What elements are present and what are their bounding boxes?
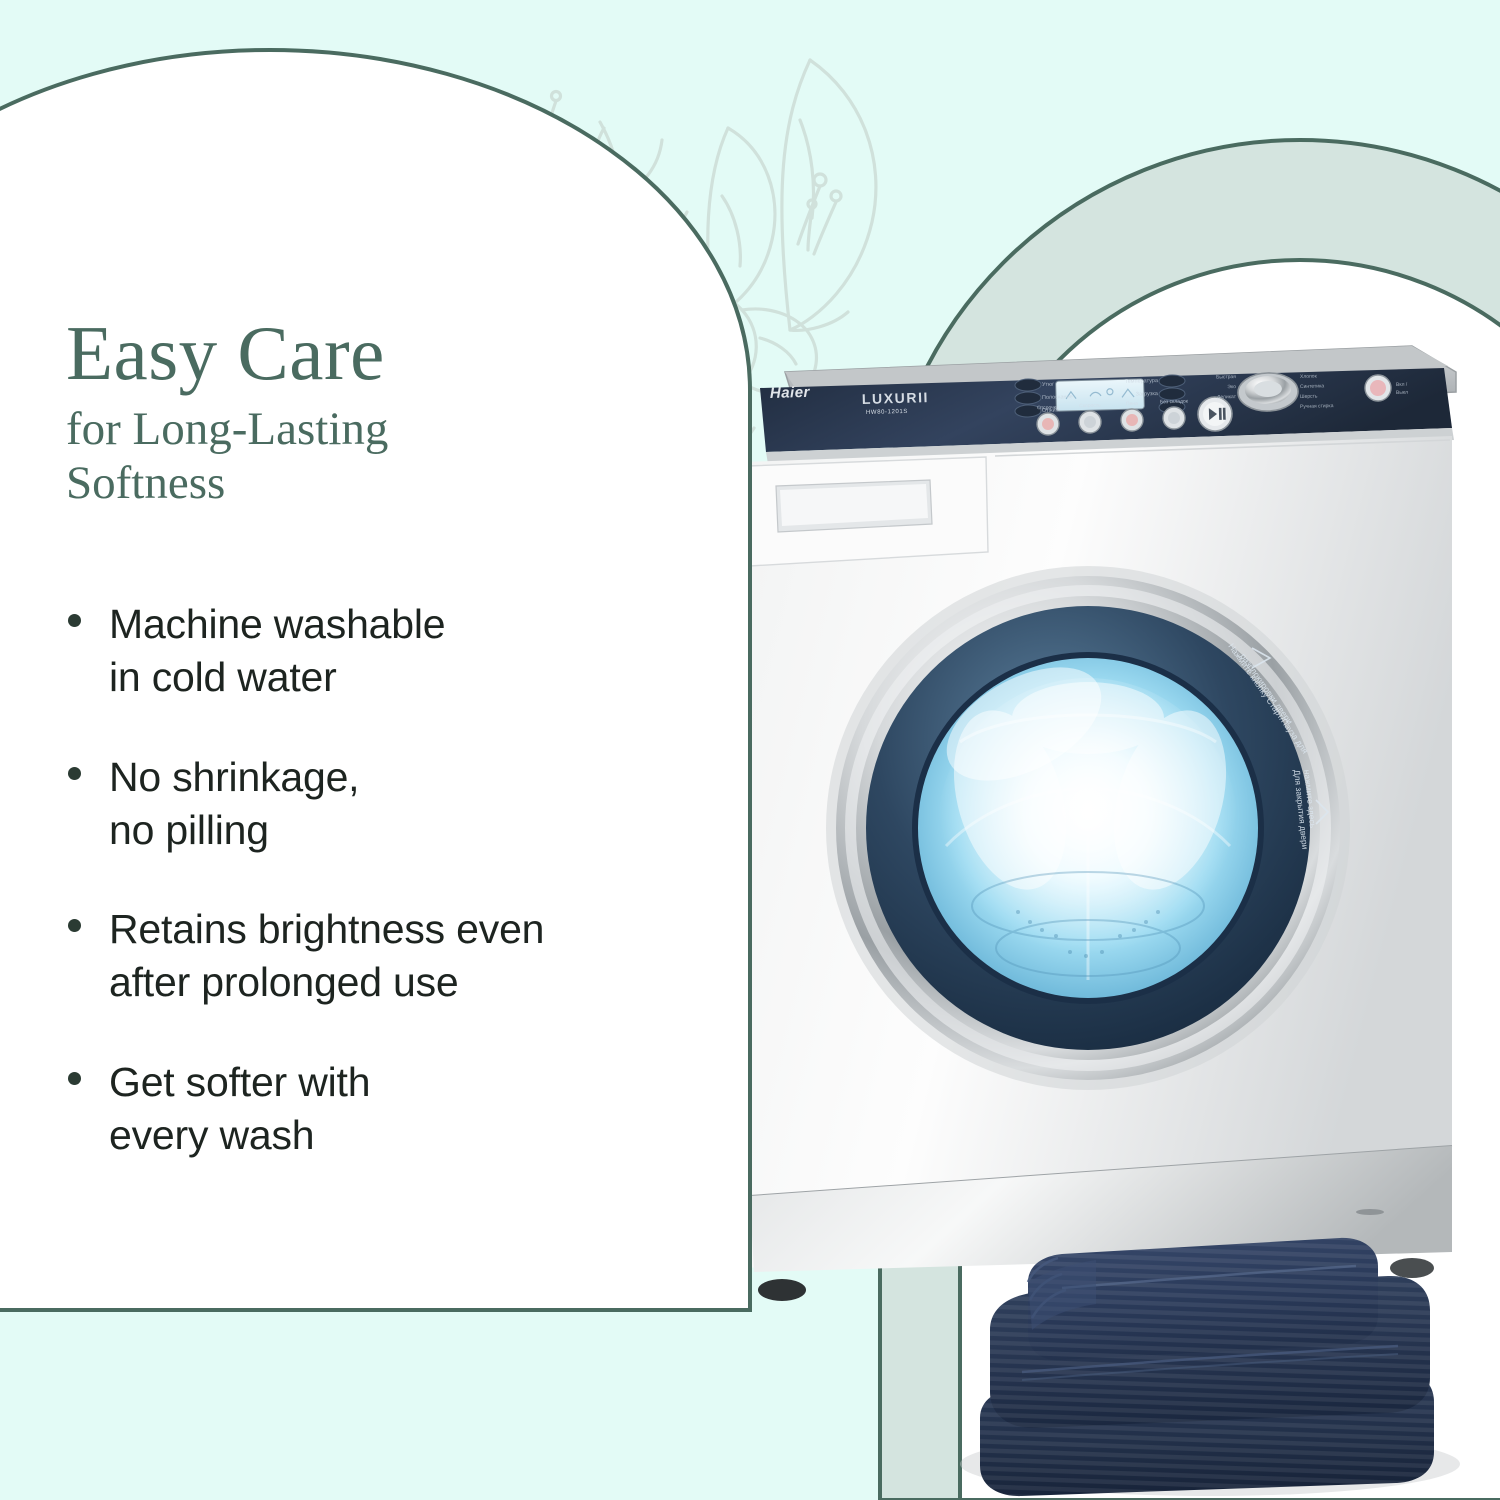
poster-canvas: Haier LUXURII HW80-1201S bbox=[0, 0, 1500, 1500]
bullet-dot-icon bbox=[68, 919, 81, 932]
heading-block: Easy Care for Long-Lasting Softness bbox=[66, 316, 666, 511]
page-title: Easy Care bbox=[66, 316, 666, 391]
feature-list: Machine washable in cold water No shrink… bbox=[62, 598, 682, 1162]
bullet-dot-icon bbox=[68, 614, 81, 627]
list-item: Get softer with every wash bbox=[62, 1056, 682, 1163]
bullet-dot-icon bbox=[68, 767, 81, 780]
list-item-label: No shrinkage, no pilling bbox=[109, 751, 359, 858]
list-item-label: Get softer with every wash bbox=[109, 1056, 370, 1163]
list-item: Retains brightness even after prolonged … bbox=[62, 903, 682, 1010]
list-item-label: Machine washable in cold water bbox=[109, 598, 445, 705]
page-subtitle: for Long-Lasting Softness bbox=[66, 403, 536, 510]
copy-column: Easy Care for Long-Lasting Softness Mach… bbox=[0, 0, 700, 1500]
list-item: No shrinkage, no pilling bbox=[62, 751, 682, 858]
bullet-dot-icon bbox=[68, 1072, 81, 1085]
list-item-label: Retains brightness even after prolonged … bbox=[109, 903, 544, 1010]
list-item: Machine washable in cold water bbox=[62, 598, 682, 705]
